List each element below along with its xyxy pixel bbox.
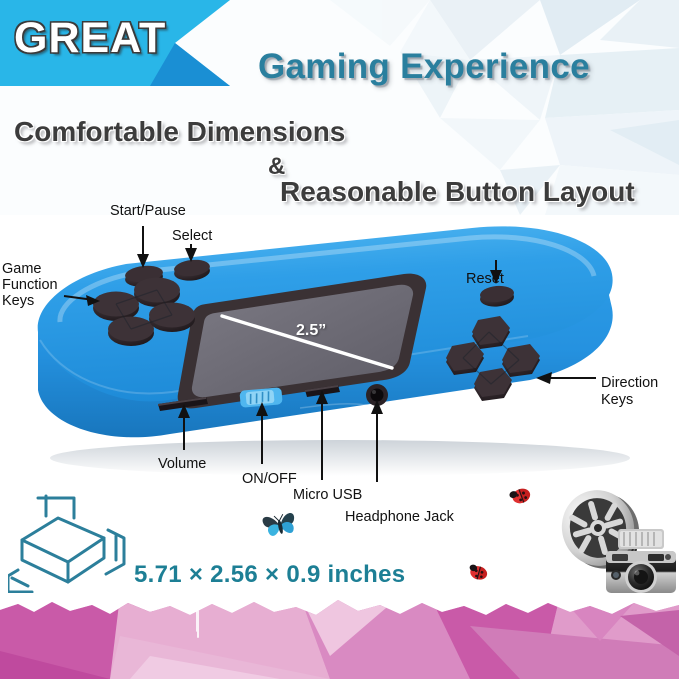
- callout-direction-keys: Direction Keys: [601, 375, 658, 408]
- ladybug-icon: [508, 485, 534, 510]
- great-badge-text: GREAT: [14, 14, 166, 63]
- camera-icon: [602, 527, 679, 602]
- dimensions-text: 5.71 × 2.56 × 0.9 inches: [134, 561, 405, 589]
- callout-headphone-jack: Headphone Jack: [345, 509, 454, 525]
- ladybug-icon: [467, 563, 491, 587]
- butterfly-icon: [258, 508, 302, 547]
- page-headline: Gaming Experience: [258, 47, 590, 87]
- callout-select: Select: [172, 228, 212, 244]
- callout-start-pause: Start/Pause: [110, 203, 186, 219]
- callout-reset: Reset: [466, 271, 504, 287]
- callout-volume: Volume: [158, 456, 206, 472]
- infographic-canvas: GREAT Gaming Experience Comfortable Dime…: [0, 0, 679, 679]
- callout-micro-usb: Micro USB: [293, 487, 362, 503]
- footer-band: [0, 596, 679, 679]
- callout-on-off: ON/OFF: [242, 471, 297, 487]
- device-illustration: [0, 212, 679, 482]
- callout-game-function-keys: Game Function Keys: [2, 261, 58, 310]
- box-dimension-icon: [8, 488, 133, 598]
- subheadline-button-layout: Reasonable Button Layout: [280, 176, 635, 208]
- screen-size-label: 2.5”: [296, 322, 326, 340]
- subheadline-dimensions: Comfortable Dimensions: [14, 116, 345, 148]
